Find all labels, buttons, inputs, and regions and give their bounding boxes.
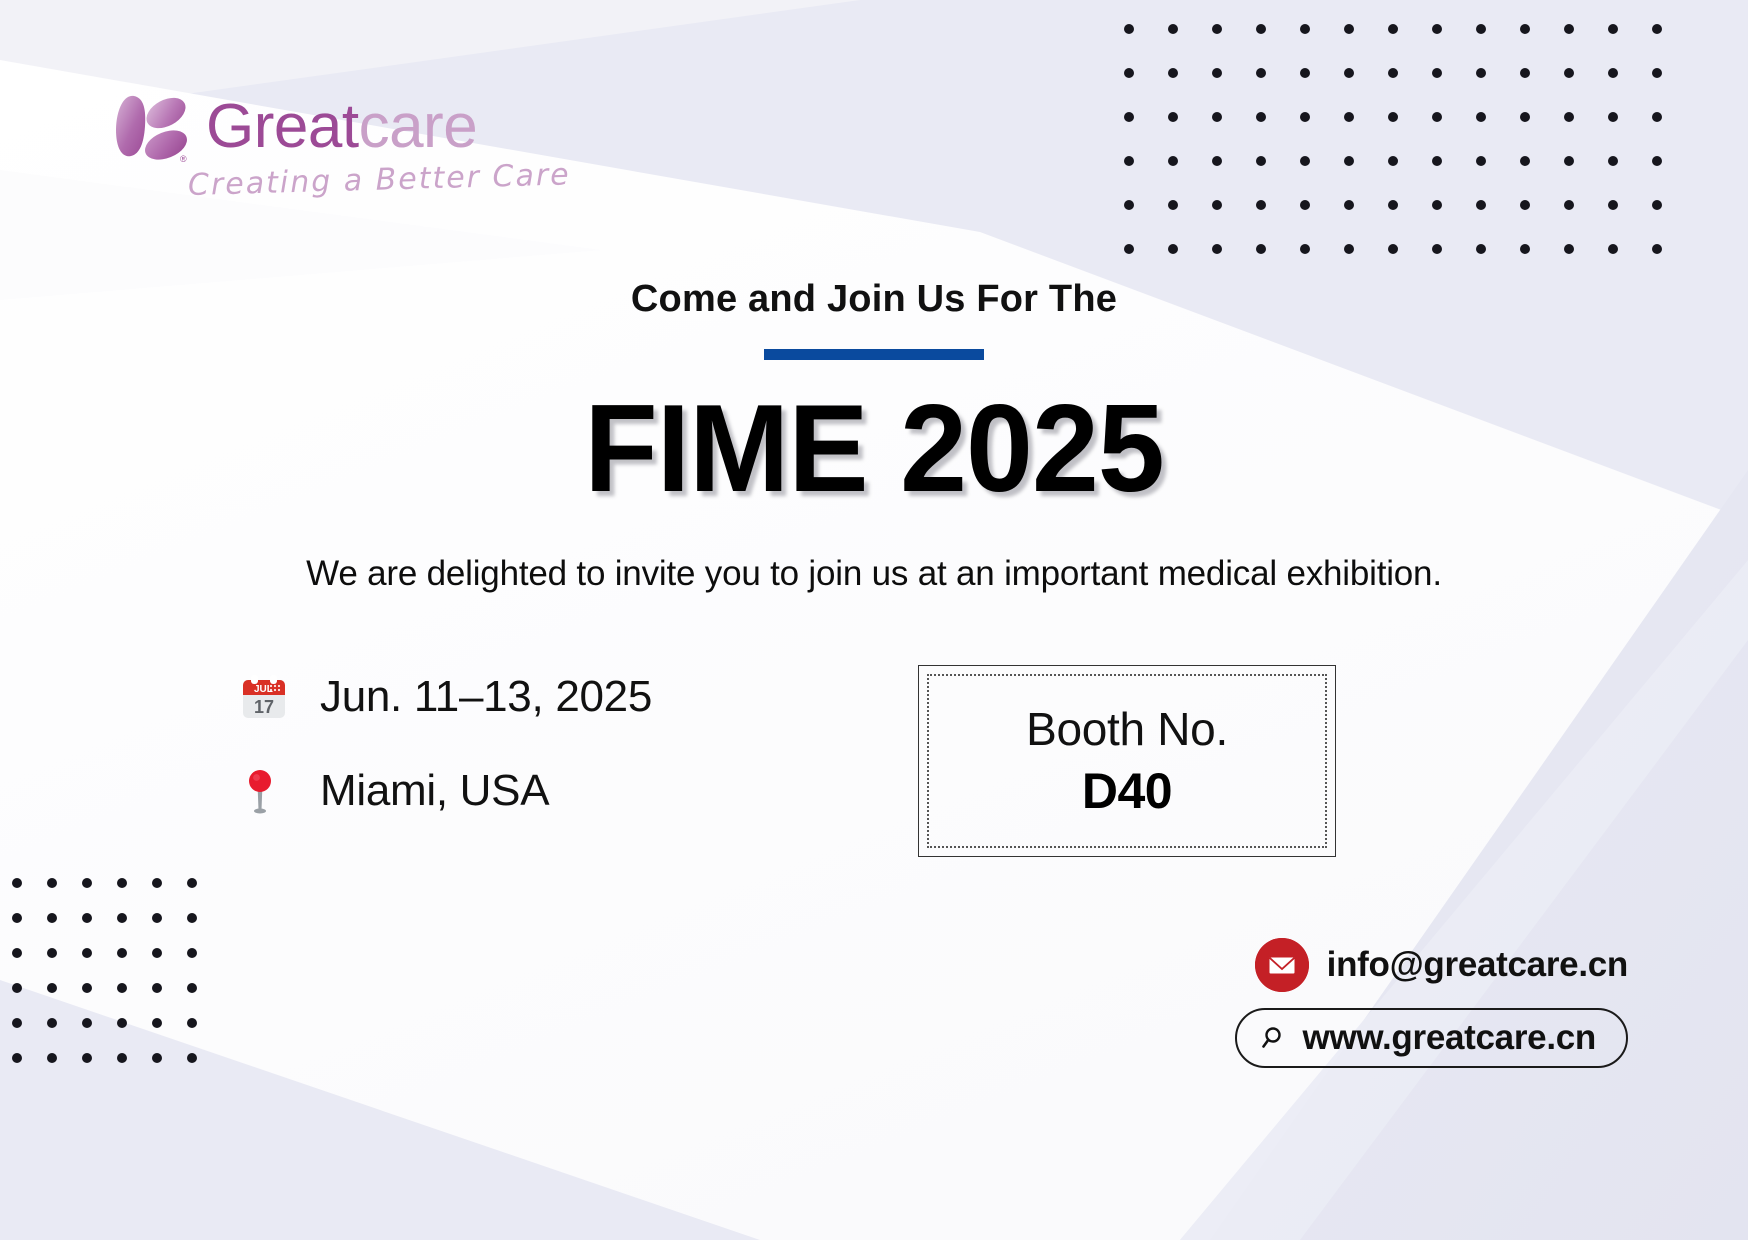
booth-number: D40 (1082, 762, 1172, 820)
event-location: Miami, USA (320, 766, 549, 816)
divider-bar (764, 349, 984, 360)
event-details: JUL 17 Jun. 11–13, 2025 Miami, USA (240, 672, 652, 860)
brand-name-part1: Great (206, 92, 359, 161)
email-address: info@greatcare.cn (1327, 945, 1628, 985)
page-title: FIME 2025 (26, 386, 1722, 512)
location-pin-icon (240, 766, 288, 816)
headline-section: Come and Join Us For The FIME 2025 We ar… (0, 278, 1748, 594)
contact-section: info@greatcare.cn www.greatcare.cn (1235, 938, 1628, 1068)
greatcare-petal-mark-icon: ® (110, 88, 190, 166)
booth-label: Booth No. (1026, 702, 1228, 756)
website-url: www.greatcare.cn (1303, 1018, 1596, 1058)
calendar-icon: JUL 17 (240, 672, 288, 722)
kicker-text: Come and Join Us For The (0, 278, 1748, 321)
decorative-dot-grid-bottomleft (12, 878, 232, 1078)
subtitle-text: We are delighted to invite you to join u… (0, 554, 1748, 594)
email-row[interactable]: info@greatcare.cn (1235, 938, 1628, 992)
website-pill[interactable]: www.greatcare.cn (1235, 1008, 1628, 1068)
svg-text:17: 17 (254, 697, 274, 717)
envelope-icon (1255, 938, 1309, 992)
brand-logo: ® Greatcare Creating a Better Care (110, 88, 571, 203)
search-icon (1259, 1023, 1289, 1053)
booth-number-box: Booth No. D40 (918, 665, 1336, 857)
detail-row-date: JUL 17 Jun. 11–13, 2025 (240, 672, 652, 722)
event-date: Jun. 11–13, 2025 (320, 672, 652, 722)
decorative-dot-grid-topright (1124, 24, 1704, 274)
booth-inner-border: Booth No. D40 (927, 674, 1327, 848)
brand-name-part2: care (359, 92, 478, 161)
svg-text:®: ® (180, 154, 187, 164)
detail-row-location: Miami, USA (240, 766, 652, 816)
brand-wordmark: Greatcare (206, 96, 477, 158)
